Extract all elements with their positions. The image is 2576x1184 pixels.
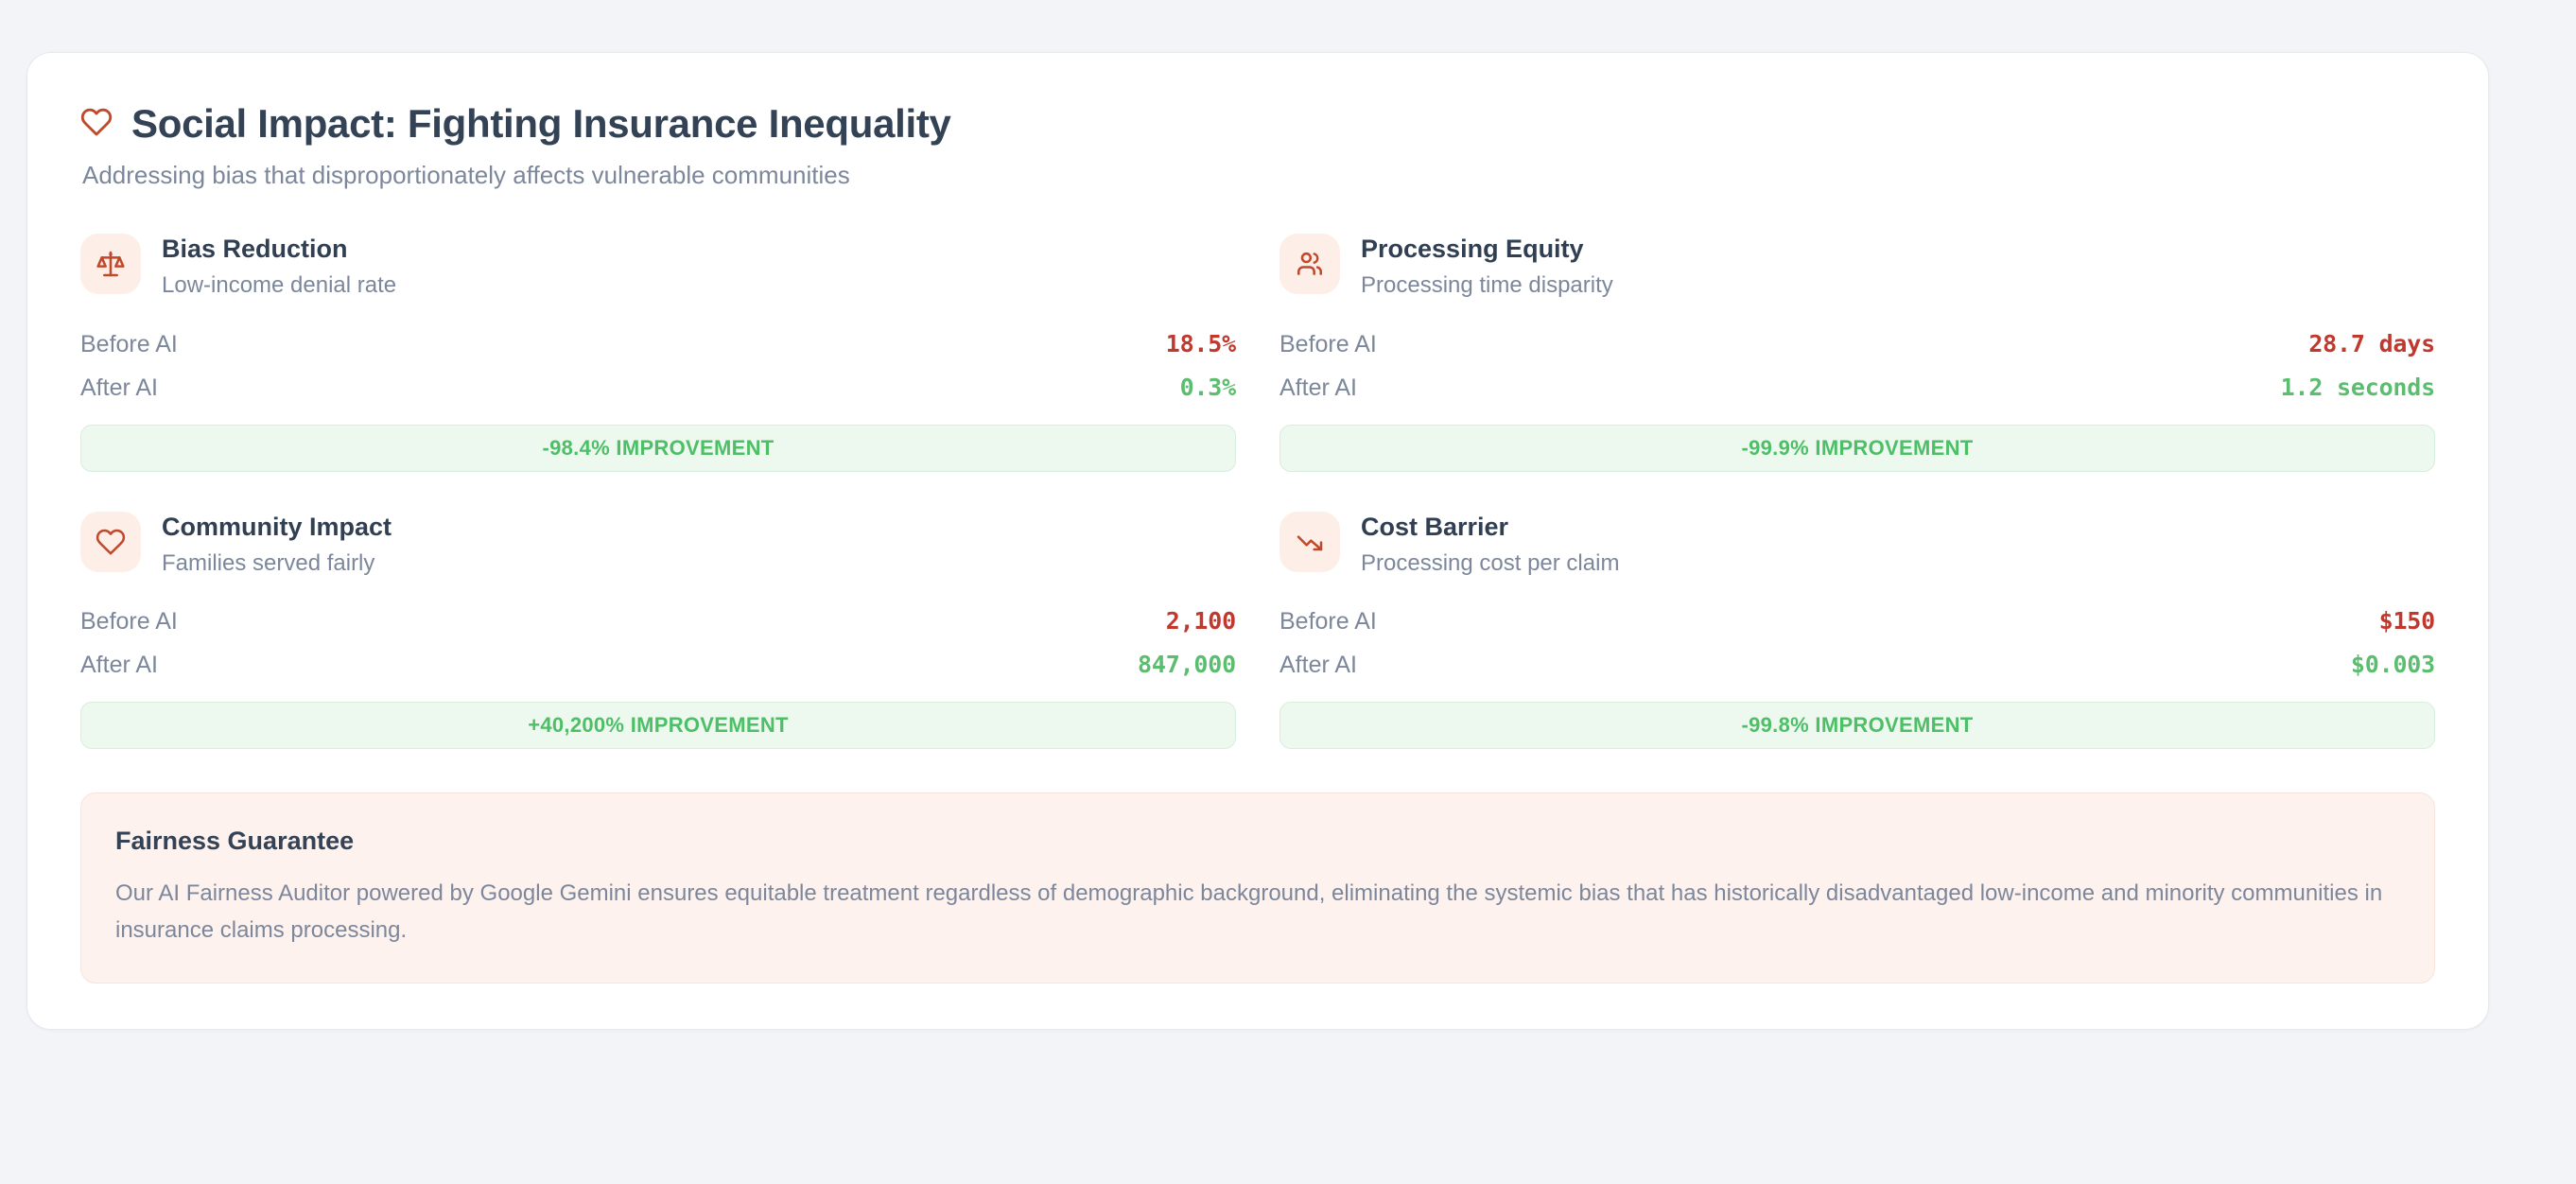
- row-value-after: $0.003: [2351, 651, 2435, 678]
- row-value-after: 847,000: [1138, 651, 1236, 678]
- page-subtitle: Addressing bias that disproportionately …: [82, 160, 2435, 192]
- row-value-before: 2,100: [1166, 607, 1236, 635]
- social-impact-panel: Social Impact: Fighting Insurance Inequa…: [26, 52, 2489, 1030]
- metric-row-before: Before AI $150: [1279, 601, 2435, 641]
- metric-sublabel: Families served fairly: [162, 550, 392, 578]
- metric-rows: Before AI 2,100 After AI 847,000: [80, 601, 1236, 685]
- metric-head: Bias Reduction Low-income denial rate: [80, 234, 1236, 300]
- metric-row-before: Before AI 18.5%: [80, 324, 1236, 364]
- metric-sublabel: Low-income denial rate: [162, 272, 396, 300]
- metric-heading-text: Cost Barrier Processing cost per claim: [1361, 512, 1619, 578]
- improvement-badge: -99.9% IMPROVEMENT: [1279, 425, 2435, 472]
- improvement-badge: -99.8% IMPROVEMENT: [1279, 702, 2435, 749]
- row-label-before: Before AI: [1279, 608, 1377, 636]
- metric-rows: Before AI $150 After AI $0.003: [1279, 601, 2435, 685]
- metric-card-community-impact: Community Impact Families served fairly …: [80, 512, 1236, 750]
- metric-sublabel: Processing time disparity: [1361, 272, 1613, 300]
- row-value-after: 0.3%: [1180, 374, 1236, 401]
- row-label-after: After AI: [1279, 652, 1357, 679]
- heart-icon: [80, 512, 141, 572]
- row-label-after: After AI: [1279, 374, 1357, 402]
- row-value-before: 18.5%: [1166, 330, 1236, 357]
- metric-head: Processing Equity Processing time dispar…: [1279, 234, 2435, 300]
- metric-row-after: After AI $0.003: [1279, 645, 2435, 685]
- fairness-guarantee-body: Our AI Fairness Auditor powered by Googl…: [115, 876, 2400, 949]
- fairness-guarantee-box: Fairness Guarantee Our AI Fairness Audit…: [80, 792, 2435, 984]
- metric-head: Community Impact Families served fairly: [80, 512, 1236, 578]
- row-value-after: 1.2 seconds: [2281, 374, 2435, 401]
- metric-rows: Before AI 28.7 days After AI 1.2 seconds: [1279, 324, 2435, 408]
- metric-head: Cost Barrier Processing cost per claim: [1279, 512, 2435, 578]
- panel-header: Social Impact: Fighting Insurance Inequa…: [80, 102, 2435, 192]
- title-row: Social Impact: Fighting Insurance Inequa…: [80, 102, 2435, 146]
- metric-row-after: After AI 847,000: [80, 645, 1236, 685]
- metric-sublabel: Processing cost per claim: [1361, 550, 1619, 578]
- row-label-before: Before AI: [80, 608, 178, 636]
- users-icon: [1279, 234, 1340, 294]
- metric-heading-text: Community Impact Families served fairly: [162, 512, 392, 578]
- metric-row-after: After AI 0.3%: [80, 368, 1236, 408]
- metric-row-before: Before AI 28.7 days: [1279, 324, 2435, 364]
- page-root: Social Impact: Fighting Insurance Inequa…: [0, 0, 2576, 1184]
- fairness-guarantee-title: Fairness Guarantee: [115, 826, 2400, 856]
- scales-icon: [80, 234, 141, 294]
- row-value-before: 28.7 days: [2308, 330, 2435, 357]
- row-label-before: Before AI: [1279, 331, 1377, 358]
- row-label-after: After AI: [80, 374, 158, 402]
- metric-label: Bias Reduction: [162, 235, 396, 265]
- row-value-before: $150: [2379, 607, 2435, 635]
- metric-card-processing-equity: Processing Equity Processing time dispar…: [1279, 234, 2435, 472]
- metric-label: Cost Barrier: [1361, 513, 1619, 543]
- row-label-before: Before AI: [80, 331, 178, 358]
- metric-label: Processing Equity: [1361, 235, 1613, 265]
- metric-heading-text: Processing Equity Processing time dispar…: [1361, 234, 1613, 300]
- metrics-grid: Bias Reduction Low-income denial rate Be…: [80, 234, 2435, 749]
- metric-heading-text: Bias Reduction Low-income denial rate: [162, 234, 396, 300]
- metric-label: Community Impact: [162, 513, 392, 543]
- metric-card-bias-reduction: Bias Reduction Low-income denial rate Be…: [80, 234, 1236, 472]
- improvement-badge: +40,200% IMPROVEMENT: [80, 702, 1236, 749]
- metric-rows: Before AI 18.5% After AI 0.3%: [80, 324, 1236, 408]
- metric-card-cost-barrier: Cost Barrier Processing cost per claim B…: [1279, 512, 2435, 750]
- improvement-badge: -98.4% IMPROVEMENT: [80, 425, 1236, 472]
- row-label-after: After AI: [80, 652, 158, 679]
- metric-row-after: After AI 1.2 seconds: [1279, 368, 2435, 408]
- heart-icon: [80, 106, 113, 143]
- metric-row-before: Before AI 2,100: [80, 601, 1236, 641]
- page-title: Social Impact: Fighting Insurance Inequa…: [131, 102, 951, 146]
- trending-down-icon: [1279, 512, 1340, 572]
